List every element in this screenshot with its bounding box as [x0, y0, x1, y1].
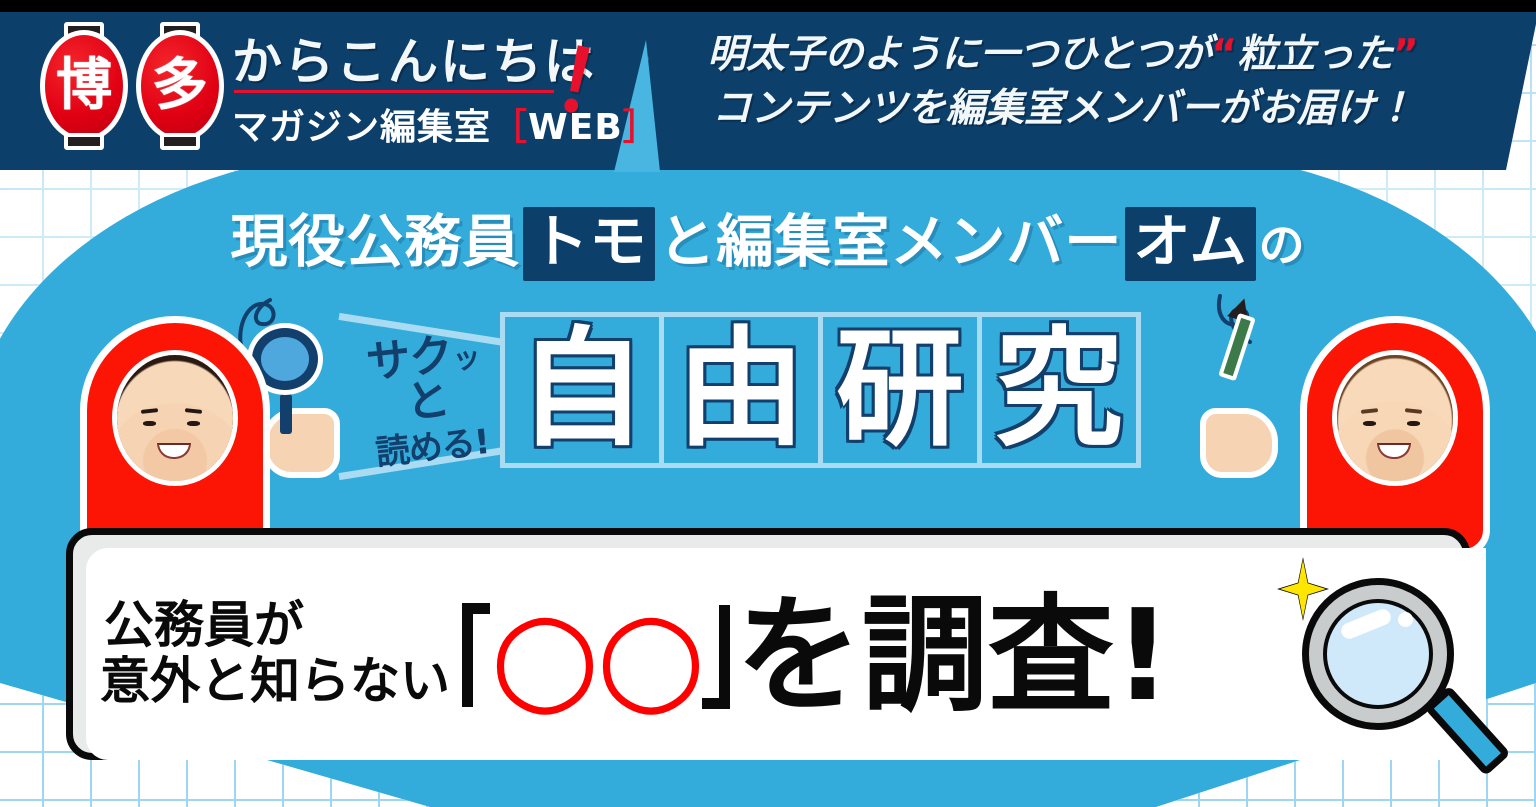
headline-bracket-close	[702, 597, 736, 715]
badge-line1-tsu: ッ	[451, 340, 481, 376]
header-bracket-open: ［	[491, 107, 528, 148]
headline: 公務員が 意外と知らない ○○を調査!	[100, 556, 1340, 756]
magnifier-shine-small	[1398, 612, 1413, 627]
page-title: 現役公務員トモと編集室メンバーオムの	[0, 196, 1536, 278]
tomo-eye-right	[187, 421, 200, 426]
om-arm	[1200, 408, 1278, 478]
title-part-2: と編集室メンバー	[658, 209, 1122, 275]
character-tomo	[80, 316, 380, 556]
kenkyu-char: 由	[677, 326, 805, 454]
header-red-rule	[234, 90, 554, 93]
tagline-quote-close: ”	[1393, 32, 1419, 77]
kenkyu-cell: 研	[818, 312, 982, 468]
headline-small-line1: 公務員が	[100, 597, 450, 653]
badge-line1-b: と	[404, 374, 452, 429]
lantern-kanji: 多	[134, 42, 226, 130]
lantern-cap-bottom	[64, 133, 104, 150]
tagline-line1-b: 粒立った	[1237, 32, 1393, 77]
magazine-banner: 博 多 からこんにちは ！ マガジン編集室［WEB］ 明太子のように一つひとつが…	[0, 0, 1536, 807]
kenkyu-char: 研	[836, 326, 964, 454]
tagline-line2: コンテンツを編集室メンバーがお届け！	[712, 86, 1414, 131]
om-eye-left	[1363, 421, 1376, 426]
top-black-strip	[0, 0, 1536, 14]
header-main-text: からこんにちは	[232, 22, 596, 94]
lantern-group: 博 多	[38, 22, 226, 150]
headline-bracket-open	[456, 597, 490, 715]
headline-tail: を調査!	[736, 593, 1171, 719]
tomo-face	[117, 355, 233, 481]
title-part-3: の	[1259, 218, 1306, 272]
headline-big-text: ○○を調査!	[456, 593, 1171, 719]
kenkyu-char: 自	[518, 326, 646, 454]
header-sub-label: マガジン編集室	[232, 107, 491, 148]
kenkyu-cell: 究	[977, 312, 1141, 468]
om-eye-right	[1407, 421, 1420, 426]
lantern-hakata-2: 多	[134, 22, 226, 150]
title-chip-tomo: トモ	[523, 207, 655, 281]
lantern-cap-bottom	[160, 133, 200, 150]
tagline-line1-a: 明太子のように一つひとつが	[707, 32, 1211, 77]
header-tagline: 明太子のように一つひとつが“粒立った” コンテンツを編集室メンバーがお届け！	[648, 28, 1478, 136]
om-avatar	[1332, 350, 1458, 486]
tomo-arm	[262, 408, 340, 478]
magnifier-icon	[1286, 556, 1516, 800]
kenkyu-cell: 自	[500, 312, 664, 468]
headline-small-line2: 意外と知らない	[100, 653, 450, 709]
character-om	[1190, 316, 1490, 556]
headline-maru: ○○	[490, 593, 702, 719]
title-part-1: 現役公務員	[230, 209, 520, 275]
jiyu-kenkyu-boxes: 自 由 研 究	[500, 312, 1141, 468]
title-chip-om: オム	[1125, 207, 1255, 281]
tomo-magnifier-handle	[280, 394, 292, 434]
om-face	[1337, 355, 1453, 481]
header-web-label: WEB	[528, 107, 623, 148]
header-sub-text: マガジン編集室［WEB］	[232, 98, 660, 150]
tagline-quote-open: “	[1211, 32, 1237, 77]
kenkyu-cell: 由	[659, 312, 823, 468]
lantern-hakata-1: 博	[38, 22, 130, 150]
headline-small-text: 公務員が 意外と知らない	[100, 597, 450, 715]
tomo-avatar	[112, 350, 238, 486]
kenkyu-char: 究	[995, 326, 1123, 454]
lantern-kanji: 博	[38, 42, 130, 130]
tomo-eye-left	[143, 421, 156, 426]
